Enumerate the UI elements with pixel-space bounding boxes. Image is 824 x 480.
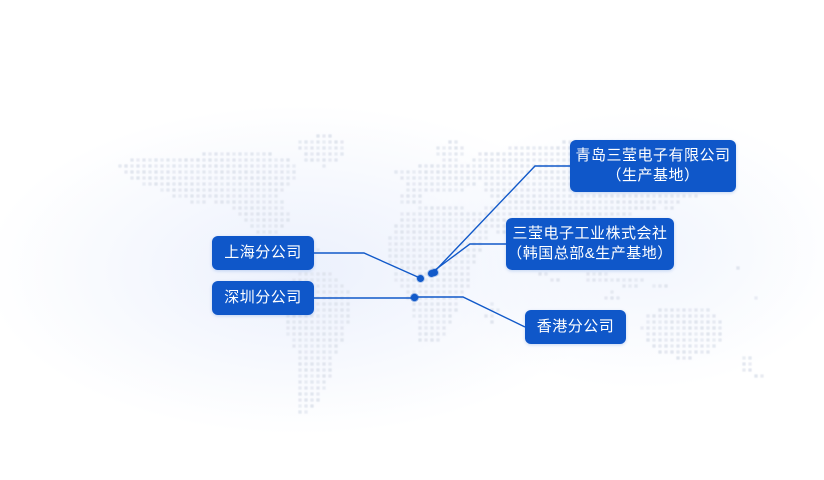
label-line-1: 三莹电子工业株式会社	[512, 224, 667, 244]
connector-korea	[431, 244, 506, 273]
label-line-1: 青岛三莹电子有限公司	[575, 146, 730, 166]
label-line-2: （韩国总部&生产基地）	[507, 244, 673, 264]
label-line-1: 深圳分公司	[224, 288, 302, 308]
label-hongkong-branch[interactable]: 香港分公司	[525, 310, 626, 344]
marker-korea[interactable]	[428, 270, 435, 277]
label-line-1: 香港分公司	[537, 317, 615, 337]
world-map-infographic: 青岛三莹电子有限公司 （生产基地） 三莹电子工业株式会社 （韩国总部&生产基地）…	[0, 0, 824, 480]
connector-hongkong	[414, 297, 525, 327]
label-line-1: 上海分公司	[224, 243, 302, 263]
label-korea-headquarters[interactable]: 三莹电子工业株式会社 （韩国总部&生产基地）	[506, 218, 674, 270]
connector-shanghai	[314, 253, 420, 278]
label-line-2: （生产基地）	[606, 166, 699, 186]
connector-lines	[0, 0, 824, 480]
label-shenzhen-branch[interactable]: 深圳分公司	[212, 281, 314, 315]
label-qingdao-plant[interactable]: 青岛三莹电子有限公司 （生产基地）	[570, 140, 736, 192]
label-shanghai-branch[interactable]: 上海分公司	[212, 236, 314, 270]
marker-shanghai[interactable]	[417, 275, 424, 282]
marker-shenzhen[interactable]	[411, 294, 418, 301]
